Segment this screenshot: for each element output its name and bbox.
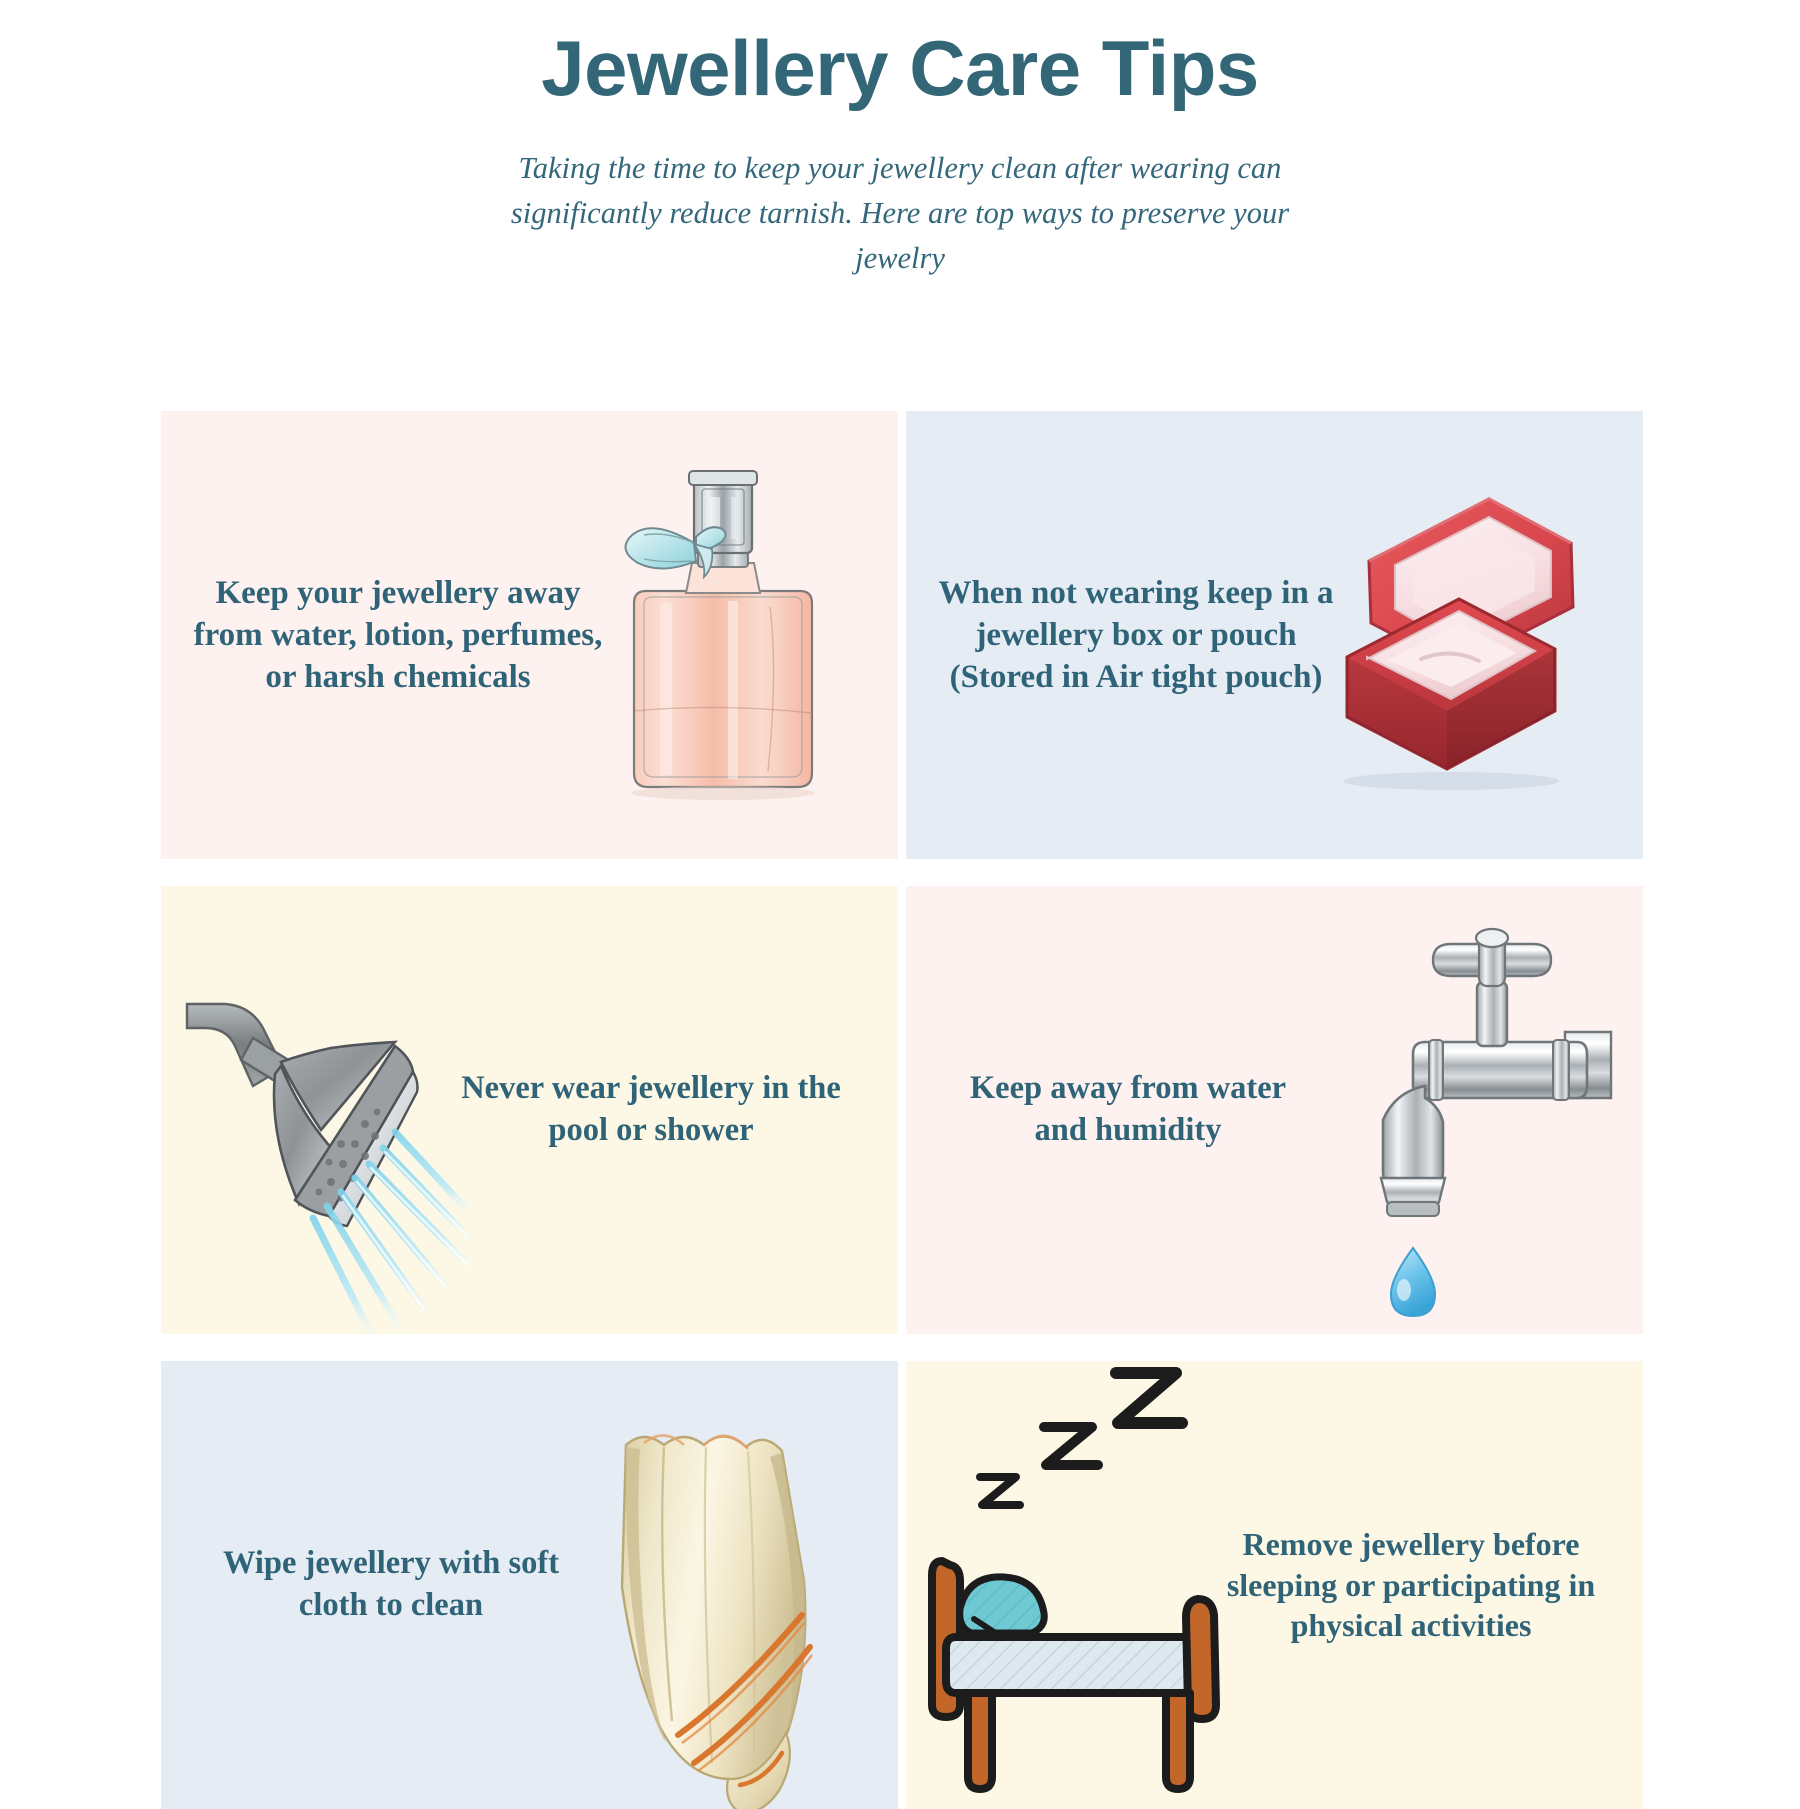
tip-card-jewellery-box: When not wearing keep in a jewellery box… — [906, 411, 1643, 859]
tip-card-text: Remove jewellery before sleeping or part… — [1226, 1524, 1596, 1647]
tip-card-text: Keep your jewellery away from water, lot… — [183, 572, 613, 699]
tip-card-text: Keep away from water and humidity — [948, 1068, 1308, 1151]
page-subtitle: Taking the time to keep your jewellery c… — [505, 146, 1295, 280]
faucet-icon — [1329, 886, 1619, 1334]
perfume-bottle-icon — [588, 411, 888, 859]
tip-card-shower: Never wear jewellery in the pool or show… — [161, 886, 898, 1334]
cloth-icon — [560, 1361, 880, 1809]
tip-card-faucet: Keep away from water and humidity — [906, 886, 1643, 1334]
tip-card-perfume: Keep your jewellery away from water, lot… — [161, 411, 898, 859]
tip-card-sleeping: Remove jewellery before sleeping or part… — [906, 1361, 1643, 1809]
header: Jewellery Care Tips Taking the time to k… — [0, 0, 1800, 280]
shower-head-icon — [179, 886, 469, 1334]
tip-card-text: Wipe jewellery with soft cloth to clean — [191, 1543, 591, 1626]
page-title: Jewellery Care Tips — [0, 28, 1800, 110]
tips-grid: Keep your jewellery away from water, lot… — [161, 411, 1639, 1809]
tip-card-cloth: Wipe jewellery with soft cloth to clean — [161, 1361, 898, 1809]
tip-card-text: When not wearing keep in a jewellery box… — [936, 572, 1336, 699]
tip-card-text: Never wear jewellery in the pool or show… — [451, 1068, 851, 1151]
bed-sleeping-icon — [920, 1361, 1250, 1809]
jewellery-box-icon — [1323, 411, 1633, 859]
infographic-page: Jewellery Care Tips Taking the time to k… — [0, 0, 1800, 1800]
